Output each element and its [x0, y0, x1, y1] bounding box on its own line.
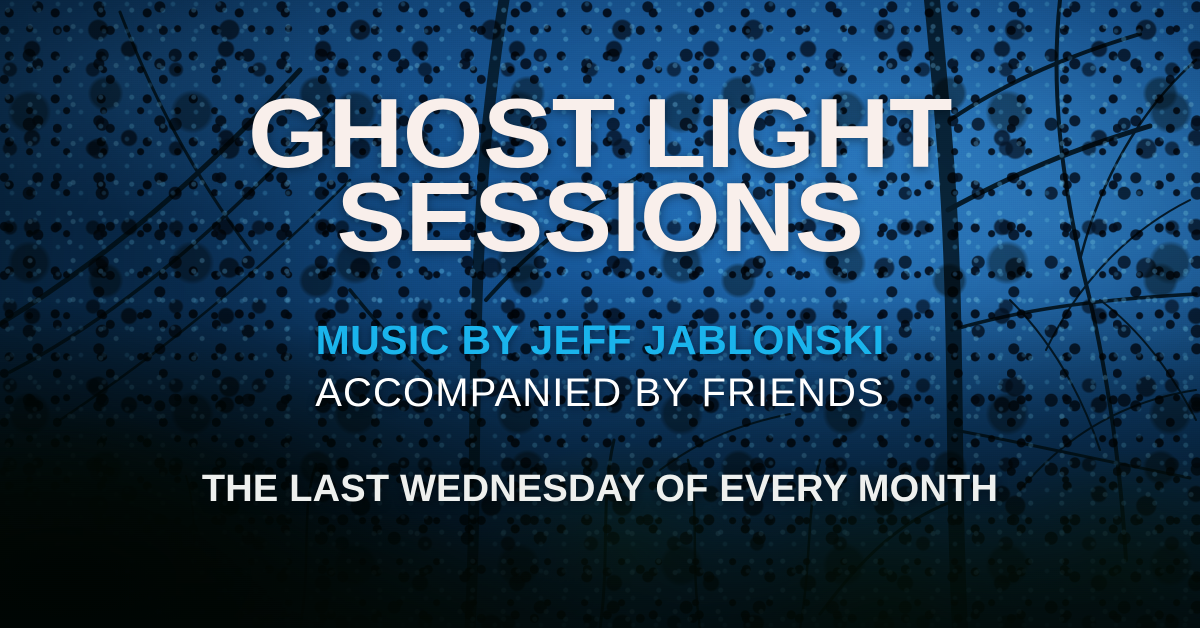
credit-artist: MUSIC BY JEFF JABLONSKI — [0, 320, 1200, 361]
title-line-2: SESSIONS — [0, 176, 1200, 258]
poster-title: GHOST LIGHT SESSIONS — [0, 92, 1200, 259]
poster-content: GHOST LIGHT SESSIONS MUSIC BY JEFF JABLO… — [0, 0, 1200, 628]
event-promo-poster: GHOST LIGHT SESSIONS MUSIC BY JEFF JABLO… — [0, 0, 1200, 628]
credit-accompaniment: ACCOMPANIED BY FRIENDS — [0, 373, 1200, 413]
poster-credits: MUSIC BY JEFF JABLONSKI ACCOMPANIED BY F… — [0, 320, 1200, 413]
poster-schedule: THE LAST WEDNESDAY OF EVERY MONTH — [0, 470, 1200, 508]
